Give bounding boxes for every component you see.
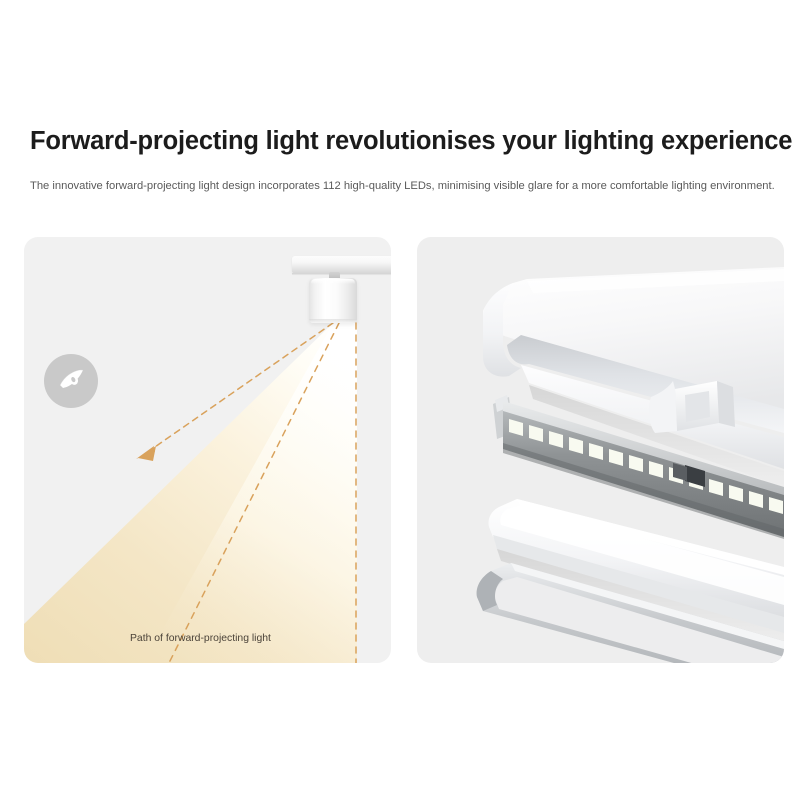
beam-caption: Path of forward-projecting light: [130, 633, 271, 644]
light-path-panel: Path of forward-projecting light: [24, 237, 391, 663]
page-subtitle: The innovative forward-projecting light …: [30, 179, 774, 194]
track-rail: [292, 256, 391, 273]
exploded-fixture-illustration: [417, 237, 784, 663]
page-title: Forward-projecting light revolutionises …: [30, 126, 774, 157]
eye-icon: [44, 354, 98, 408]
exploded-view-panel: [417, 237, 784, 663]
heading-block: Forward-projecting light revolutionises …: [30, 126, 774, 194]
page-root: Forward-projecting light revolutionises …: [0, 0, 800, 800]
panels-row: Path of forward-projecting light: [24, 237, 784, 663]
lamp-head: [309, 278, 357, 323]
